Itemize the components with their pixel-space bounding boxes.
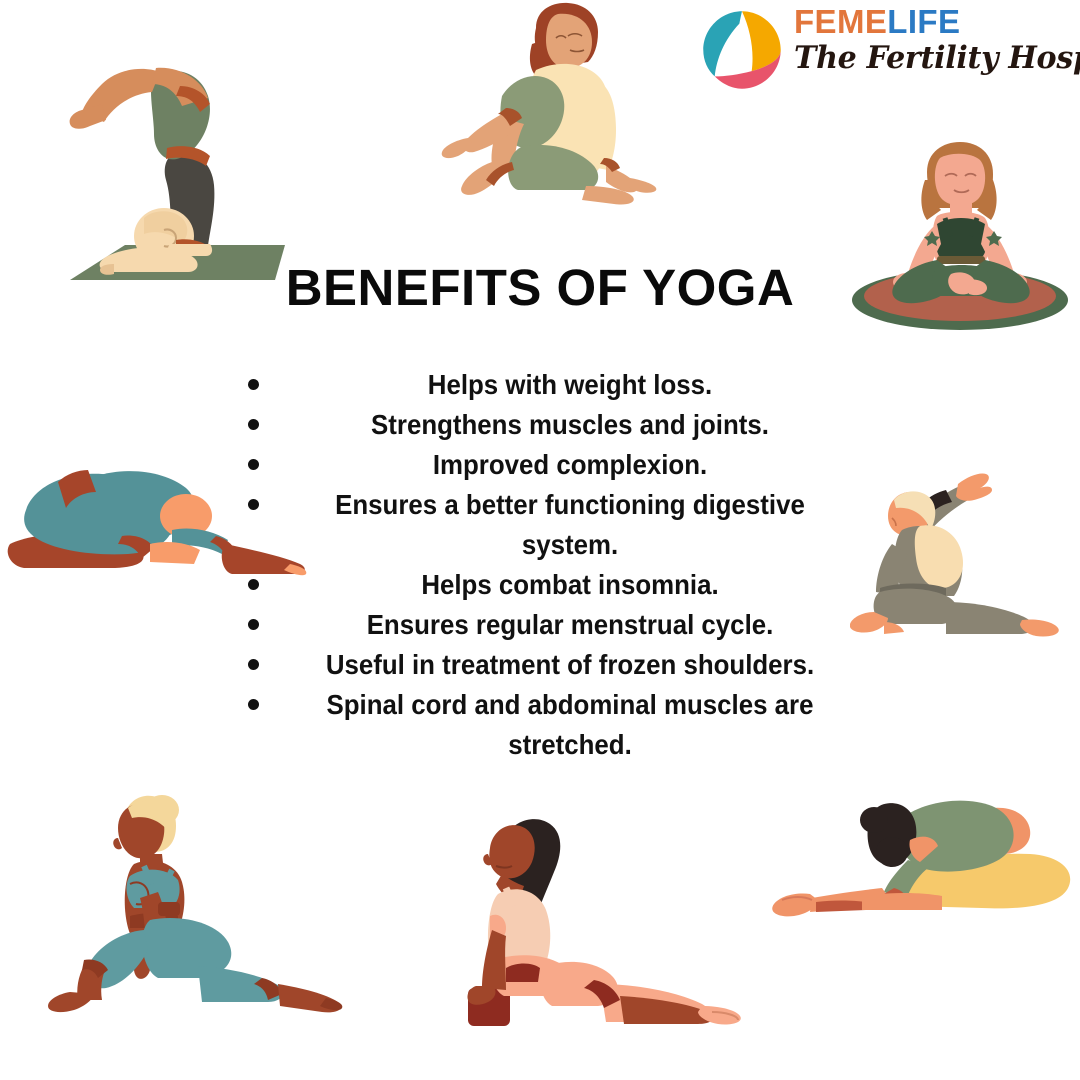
list-item: Useful in treatment of frozen shoulders.: [240, 645, 900, 685]
list-item-label: Spinal cord and abdominal muscles are: [260, 685, 880, 725]
femelife-tri-petal-logo-icon: [698, 6, 786, 94]
list-item: Helps with weight loss.: [240, 365, 900, 405]
list-item-label: Helps with weight loss.: [260, 365, 880, 405]
list-item-label: system.: [260, 525, 880, 565]
bullet-icon: [248, 659, 259, 670]
list-item: Helps combat insomnia.: [240, 565, 900, 605]
list-item-continuation: stretched.: [240, 725, 900, 765]
list-item-label: Ensures a better functioning digestive: [260, 485, 880, 525]
list-item: Improved complexion.: [240, 445, 900, 485]
list-item: Ensures regular menstrual cycle.: [240, 605, 900, 645]
bullet-icon: [248, 619, 259, 630]
brand-wordmark: FEMELIFE The Fertility Hospital: [794, 4, 1068, 76]
list-item-label: Strengthens muscles and joints.: [260, 405, 880, 445]
bullet-icon: [248, 699, 259, 710]
list-item-continuation: system.: [240, 525, 900, 565]
yoga-pose-childs-pose-illustration: [0, 440, 310, 580]
brand-name-part2: LIFE: [887, 3, 960, 40]
list-item-label: Useful in treatment of frozen shoulders.: [260, 645, 880, 685]
list-item-label: Helps combat insomnia.: [260, 565, 880, 605]
brand-name-part1: FEME: [794, 3, 887, 40]
brand-tagline: The Fertility Hospital: [794, 40, 1060, 76]
brand-logo[interactable]: FEMELIFE The Fertility Hospital: [698, 2, 1068, 94]
list-item-label: Improved complexion.: [260, 445, 880, 485]
yoga-benefits-poster: FEMELIFE The Fertility Hospital BENEFITS…: [0, 0, 1080, 1080]
yoga-pose-seated-forward-fold-illustration: [770, 790, 1080, 920]
yoga-pose-seated-twist-illustration: [410, 0, 690, 215]
yoga-pose-crescent-lunge-illustration: [850, 460, 1080, 640]
list-item-label: Ensures regular menstrual cycle.: [260, 605, 880, 645]
bullet-icon: [248, 379, 259, 390]
list-item: Spinal cord and abdominal muscles are: [240, 685, 900, 725]
bullet-icon: [248, 579, 259, 590]
bullet-icon: [248, 419, 259, 430]
list-item: Ensures a better functioning digestive: [240, 485, 900, 525]
yoga-pose-upward-dog-illustration: [440, 810, 760, 1030]
list-item-label: stretched.: [260, 725, 880, 765]
yoga-pose-lotus-meditation-illustration: [845, 140, 1075, 335]
list-item: Strengthens muscles and joints.: [240, 405, 900, 445]
brand-name: FEMELIFE: [794, 4, 1068, 40]
yoga-pose-headstand-illustration: [60, 40, 290, 290]
yoga-pose-low-lunge-illustration: [40, 780, 360, 1020]
benefits-list: Helps with weight loss. Strengthens musc…: [240, 365, 900, 765]
